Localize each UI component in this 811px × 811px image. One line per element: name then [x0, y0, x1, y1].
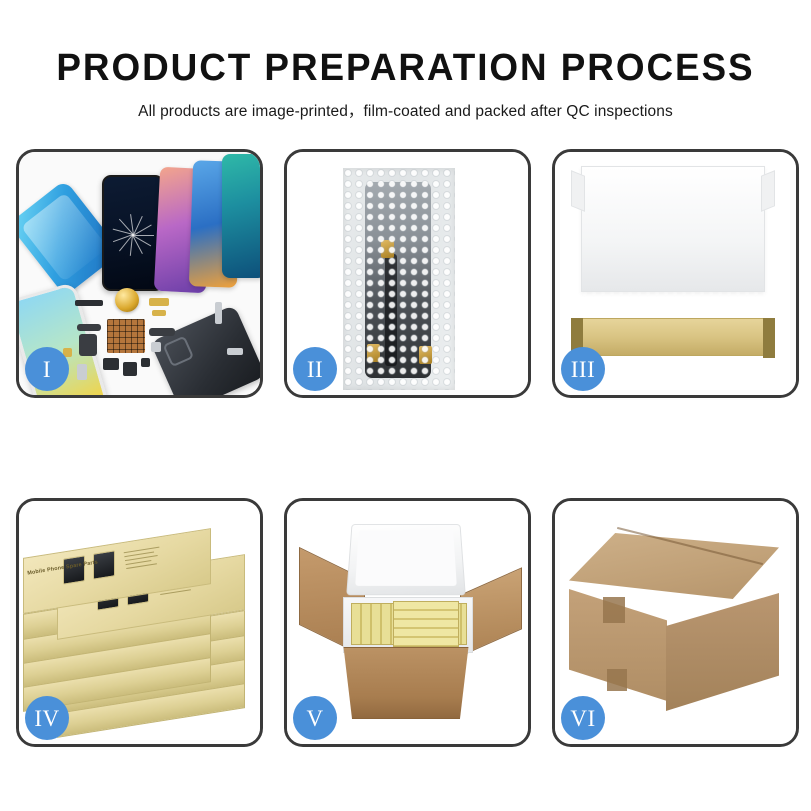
step-panel-2[interactable]: II	[284, 149, 531, 398]
bubble-texture	[343, 168, 455, 390]
step-badge-2: II	[293, 347, 337, 391]
header: PRODUCT PREPARATION PROCESS All products…	[0, 0, 811, 121]
step-panel-6[interactable]: VI	[552, 498, 799, 747]
kraft-box-tray	[571, 318, 775, 356]
small-part	[152, 310, 166, 316]
carton-tape-patch	[607, 669, 627, 691]
step-badge-6: VI	[561, 696, 605, 740]
foam-lid	[346, 524, 466, 595]
carton-tape-patch	[603, 597, 625, 623]
process-steps-grid: I II III	[16, 149, 795, 749]
speaker-coil-part	[115, 288, 139, 312]
small-part	[151, 342, 161, 352]
carton-front-panel	[335, 647, 477, 719]
flex-cable-part	[149, 328, 175, 336]
small-part	[215, 302, 222, 324]
carton-right-face	[666, 593, 779, 711]
step-panel-1[interactable]: I	[16, 149, 263, 398]
step-badge-3: III	[561, 347, 605, 391]
chip-array-part	[107, 319, 145, 353]
step-badge-4: IV	[25, 696, 69, 740]
small-part	[77, 364, 87, 380]
phone-back-housing	[150, 305, 260, 395]
step-panel-4[interactable]: Mobile Phone Spare Parts Mobile Phone Sp…	[16, 498, 263, 747]
flex-cable-part	[77, 324, 101, 331]
product-preparation-page: PRODUCT PREPARATION PROCESS All products…	[0, 0, 811, 811]
small-part	[141, 358, 150, 367]
kraft-box-stack: Mobile Phone Spare Parts Mobile Phone Sp…	[23, 521, 259, 727]
bubble-wrapped-contents	[581, 290, 765, 320]
step-badge-1: I	[25, 347, 69, 391]
step-badge-5: V	[293, 696, 337, 740]
bubble-wrap-bag	[343, 168, 455, 390]
small-part	[103, 358, 119, 370]
phone-teal	[222, 154, 260, 278]
flex-cable-part	[79, 334, 97, 356]
small-part	[75, 300, 103, 306]
white-box-lid	[581, 166, 765, 292]
page-title: PRODUCT PREPARATION PROCESS	[12, 46, 799, 90]
kraft-boxes-inside	[393, 601, 459, 647]
page-subtitle: All products are image-printed，film-coat…	[0, 99, 811, 121]
small-part	[149, 298, 169, 306]
small-part	[123, 362, 137, 376]
step-panel-3[interactable]: III	[552, 149, 799, 398]
crack-pattern-icon	[110, 212, 156, 258]
step-panel-5[interactable]: V	[284, 498, 531, 747]
small-part	[227, 348, 243, 355]
